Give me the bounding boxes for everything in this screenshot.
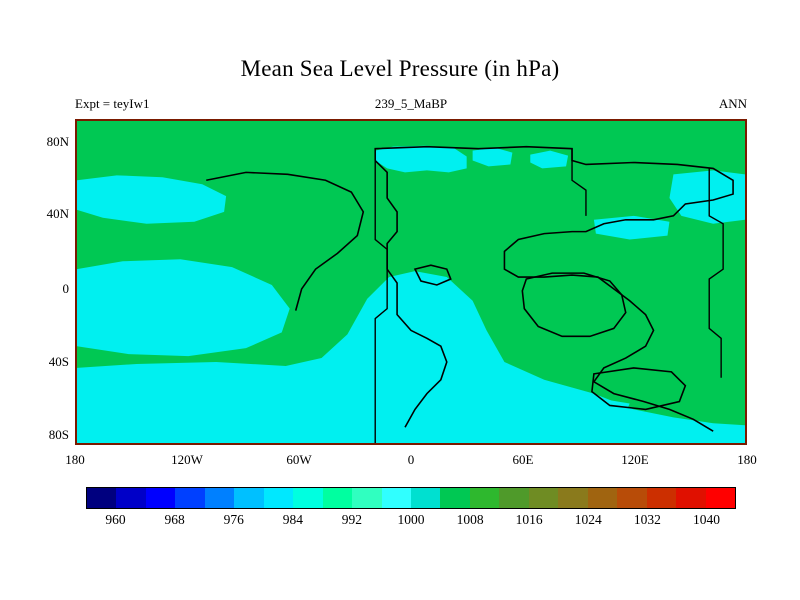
x-tick-180w: 180 — [45, 452, 105, 468]
colorbar-cell-16 — [558, 488, 587, 508]
x-tick-0: 0 — [381, 452, 441, 468]
x-tick-60w: 60W — [269, 452, 329, 468]
colorbar-cell-7 — [293, 488, 322, 508]
colorbar-label-1008: 1008 — [445, 512, 495, 528]
period-label: ANN — [719, 96, 747, 112]
y-tick-0: 0 — [23, 281, 69, 297]
x-tick-120w: 120W — [157, 452, 217, 468]
colorbar-cell-0 — [87, 488, 116, 508]
page-title: Mean Sea Level Pressure (in hPa) — [0, 56, 800, 82]
contour-map — [77, 121, 745, 443]
colorbar-cell-4 — [205, 488, 234, 508]
x-tick-180e: 180 — [717, 452, 777, 468]
colorbar-label-976: 976 — [209, 512, 259, 528]
colorbar-cell-14 — [499, 488, 528, 508]
colorbar-label-1024: 1024 — [563, 512, 613, 528]
y-tick-40n: 40N — [23, 206, 69, 222]
colorbar-cell-17 — [588, 488, 617, 508]
colorbar-cell-8 — [323, 488, 352, 508]
colorbar-label-1000: 1000 — [386, 512, 436, 528]
colorbar-cell-13 — [470, 488, 499, 508]
colorbar-cell-18 — [617, 488, 646, 508]
colorbar-cell-20 — [676, 488, 705, 508]
colorbar-label-1040: 1040 — [681, 512, 731, 528]
colorbar-label-1032: 1032 — [622, 512, 672, 528]
subtitle-row: Expt = teyIw1 239_5_MaBP ANN — [75, 96, 747, 114]
colorbar-label-992: 992 — [327, 512, 377, 528]
colorbar-cell-19 — [647, 488, 676, 508]
colorbar-cell-2 — [146, 488, 175, 508]
colorbar-label-1016: 1016 — [504, 512, 554, 528]
y-tick-80n: 80N — [23, 134, 69, 150]
colorbar-label-984: 984 — [268, 512, 318, 528]
colorbar-label-968: 968 — [150, 512, 200, 528]
run-id-label: 239_5_MaBP — [75, 96, 747, 112]
colorbar-cell-1 — [116, 488, 145, 508]
colorbar-cell-5 — [234, 488, 263, 508]
colorbar-labels: 960968976984992100010081016102410321040 — [86, 512, 736, 532]
colorbar-cell-3 — [175, 488, 204, 508]
y-tick-80s: 80S — [23, 427, 69, 443]
x-tick-60e: 60E — [493, 452, 553, 468]
colorbar — [86, 487, 736, 509]
x-tick-120e: 120E — [605, 452, 665, 468]
map-plot-area — [75, 119, 747, 445]
colorbar-cell-6 — [264, 488, 293, 508]
colorbar-label-960: 960 — [91, 512, 141, 528]
colorbar-cell-12 — [440, 488, 469, 508]
colorbar-cell-10 — [382, 488, 411, 508]
colorbar-cell-21 — [706, 488, 735, 508]
colorbar-cell-9 — [352, 488, 381, 508]
y-tick-40s: 40S — [23, 354, 69, 370]
chart-page: Mean Sea Level Pressure (in hPa) Expt = … — [0, 0, 800, 600]
colorbar-cell-15 — [529, 488, 558, 508]
colorbar-cell-11 — [411, 488, 440, 508]
